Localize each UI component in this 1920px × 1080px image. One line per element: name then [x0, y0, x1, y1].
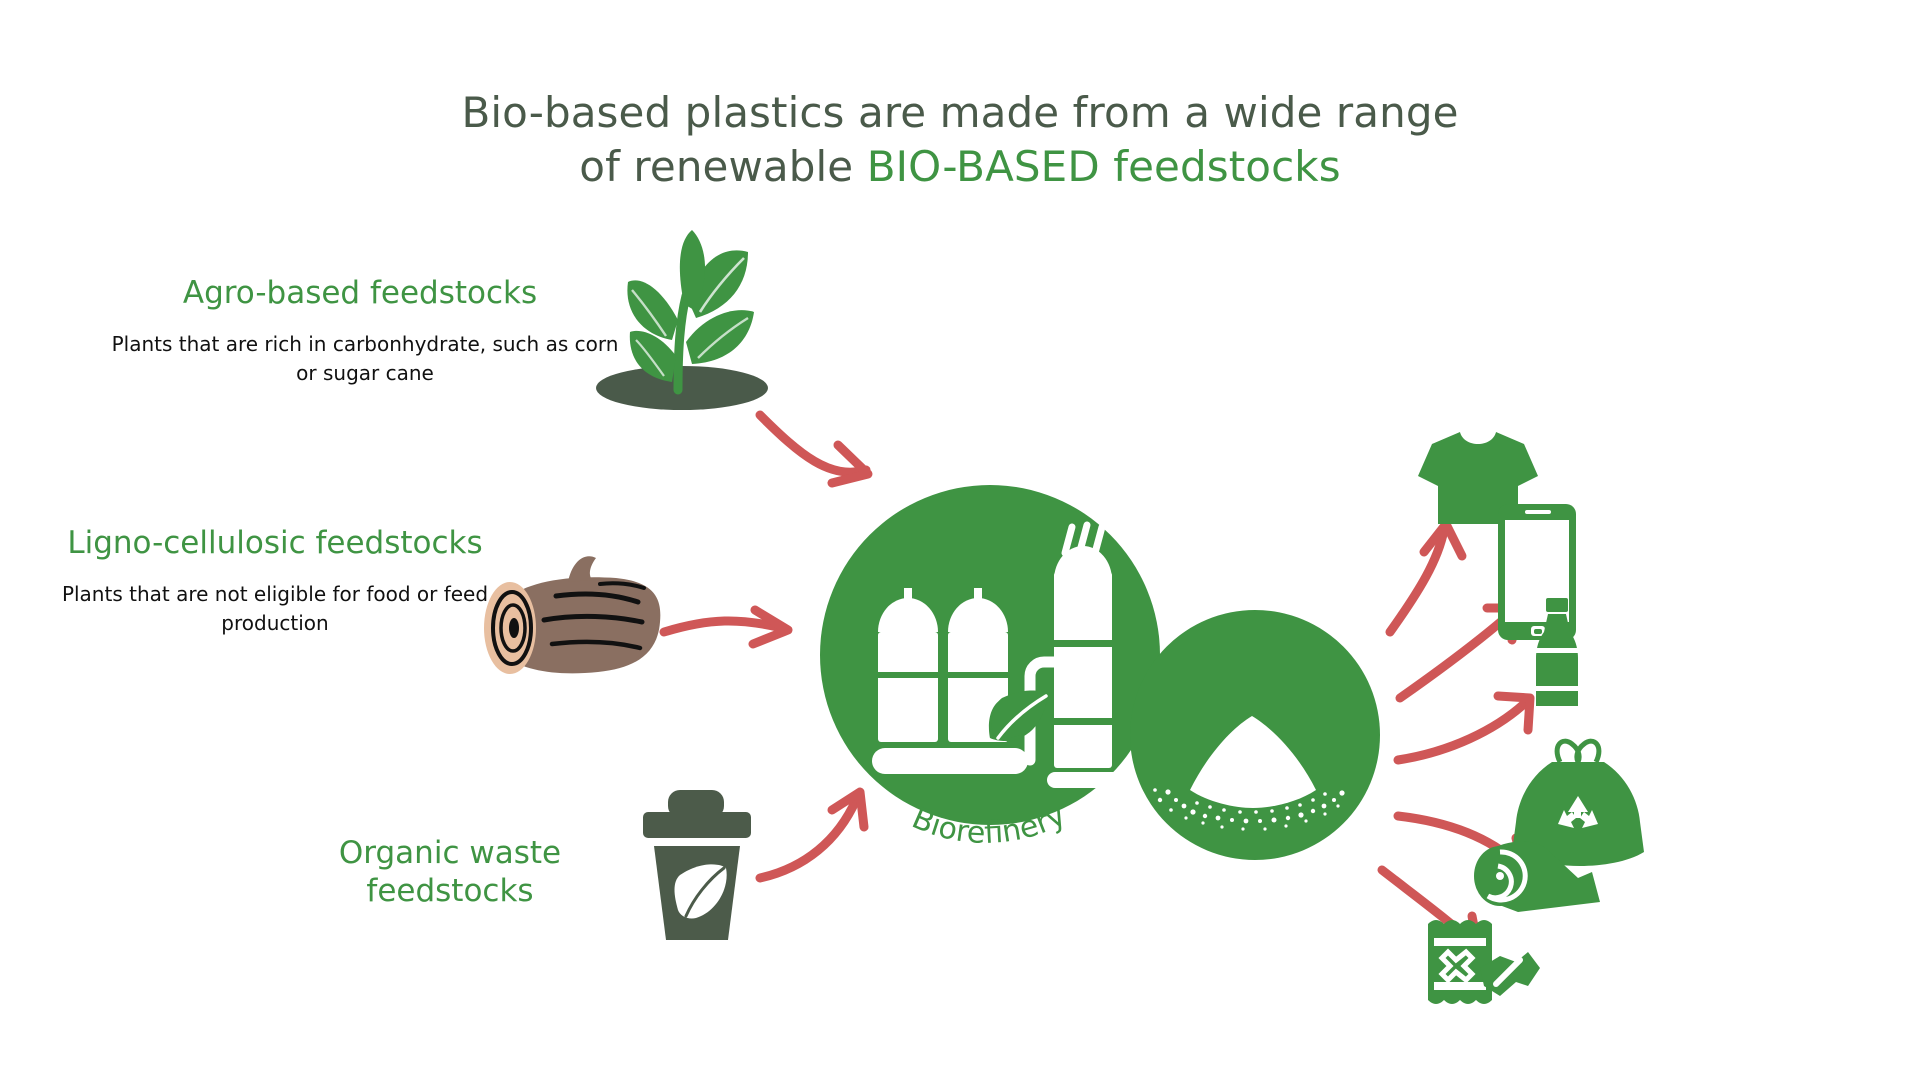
- feedstock-description-ligno: Plants that are not eligible for food or…: [45, 580, 505, 638]
- wood-log-icon: [484, 556, 660, 674]
- feedstock-label-agro: Agro-based feedstocks: [100, 275, 620, 313]
- arrow-to-bottle: [1398, 704, 1524, 760]
- seedling-icon: [596, 230, 768, 410]
- arrow-to-tshirt: [1390, 530, 1444, 632]
- infographic-canvas: Bio-based plastics are made from a wide …: [0, 0, 1920, 1080]
- arrow-to-phone: [1400, 614, 1510, 698]
- arrow-waste-to-biorefinery: [760, 800, 856, 878]
- biorefinery-group: [820, 485, 1380, 860]
- arrow-agro-head: [832, 445, 868, 483]
- feedstock-description-agro: Plants that are rich in carbonhydrate, s…: [110, 330, 620, 388]
- arrow-agro-to-biorefinery: [760, 415, 866, 472]
- feedstock-label-organic-waste: Organic waste feedstocks: [300, 835, 600, 911]
- arrow-ligno-to-biorefinery: [664, 621, 782, 632]
- organic-waste-bin-icon: [643, 790, 751, 940]
- candy-packaging-icon: [1428, 920, 1540, 1004]
- feedstock-label-ligno: Ligno-cellulosic feedstocks: [30, 525, 520, 563]
